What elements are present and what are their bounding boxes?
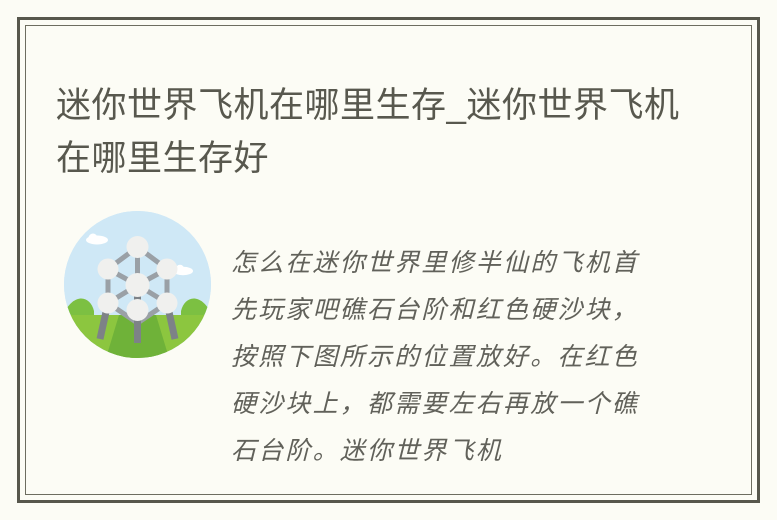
article-content-area: 迷你世界飞机在哪里生存_迷你世界飞机在哪里生存好 (26, 26, 751, 494)
article-inner-frame: 迷你世界飞机在哪里生存_迷你世界飞机在哪里生存好 (25, 25, 752, 495)
article-body-text: 怎么在迷你世界里修半仙的飞机首先玩家吧礁石台阶和红色硬沙块，按照下图所示的位置放… (231, 239, 656, 474)
atomium-monument-icon (64, 211, 211, 358)
article-outer-frame: 迷你世界飞机在哪里生存_迷你世界飞机在哪里生存好 (17, 17, 760, 503)
atomium-spheres (98, 236, 178, 321)
article-thumbnail-image (64, 211, 211, 358)
page-title: 迷你世界飞机在哪里生存_迷你世界飞机在哪里生存好 (56, 79, 686, 185)
